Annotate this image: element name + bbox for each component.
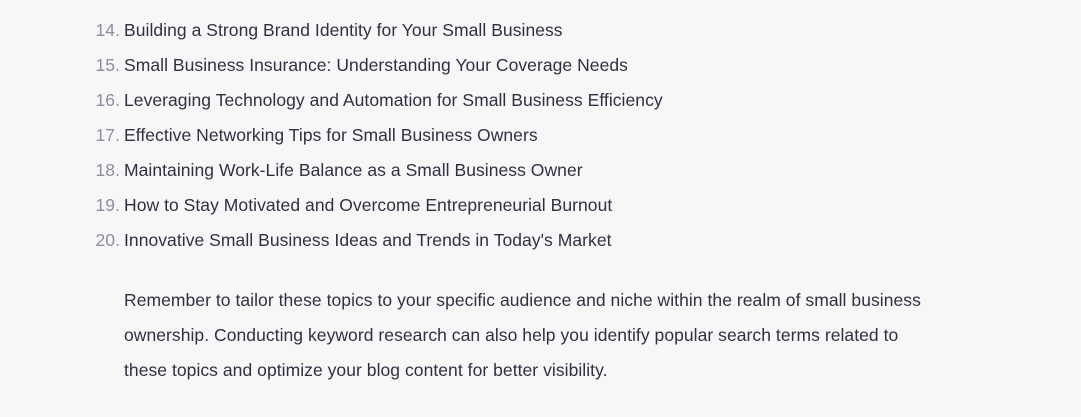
list-item-marker: 14. bbox=[0, 13, 120, 48]
list-item-label: Leveraging Technology and Automation for… bbox=[124, 90, 663, 110]
list-item-marker: 16. bbox=[0, 83, 120, 118]
list-item-marker: 15. bbox=[0, 48, 120, 83]
list-item-label: Effective Networking Tips for Small Busi… bbox=[124, 125, 538, 145]
list-item: 19. How to Stay Motivated and Overcome E… bbox=[0, 188, 1081, 223]
list-item-marker: 20. bbox=[0, 223, 120, 258]
list-item-marker: 18. bbox=[0, 153, 120, 188]
list-item: 15. Small Business Insurance: Understand… bbox=[0, 48, 1081, 83]
list-item-label: Small Business Insurance: Understanding … bbox=[124, 55, 628, 75]
list-item-label: Maintaining Work-Life Balance as a Small… bbox=[124, 160, 583, 180]
message-content: 14. Building a Strong Brand Identity for… bbox=[0, 0, 1081, 388]
list-item: 14. Building a Strong Brand Identity for… bbox=[0, 13, 1081, 48]
list-item-marker: 19. bbox=[0, 188, 120, 223]
list-item: 17. Effective Networking Tips for Small … bbox=[0, 118, 1081, 153]
list-item: 16. Leveraging Technology and Automation… bbox=[0, 83, 1081, 118]
list-item-marker: 17. bbox=[0, 118, 120, 153]
topic-list: 14. Building a Strong Brand Identity for… bbox=[0, 13, 1081, 258]
list-item-label: How to Stay Motivated and Overcome Entre… bbox=[124, 195, 612, 215]
list-item-label: Building a Strong Brand Identity for You… bbox=[124, 20, 563, 40]
assistant-message-surface: 14. Building a Strong Brand Identity for… bbox=[0, 0, 1081, 417]
closing-paragraph: Remember to tailor these topics to your … bbox=[0, 258, 1081, 388]
list-item: 20. Innovative Small Business Ideas and … bbox=[0, 223, 1081, 258]
list-item: 18. Maintaining Work-Life Balance as a S… bbox=[0, 153, 1081, 188]
list-item-label: Innovative Small Business Ideas and Tren… bbox=[124, 230, 612, 250]
